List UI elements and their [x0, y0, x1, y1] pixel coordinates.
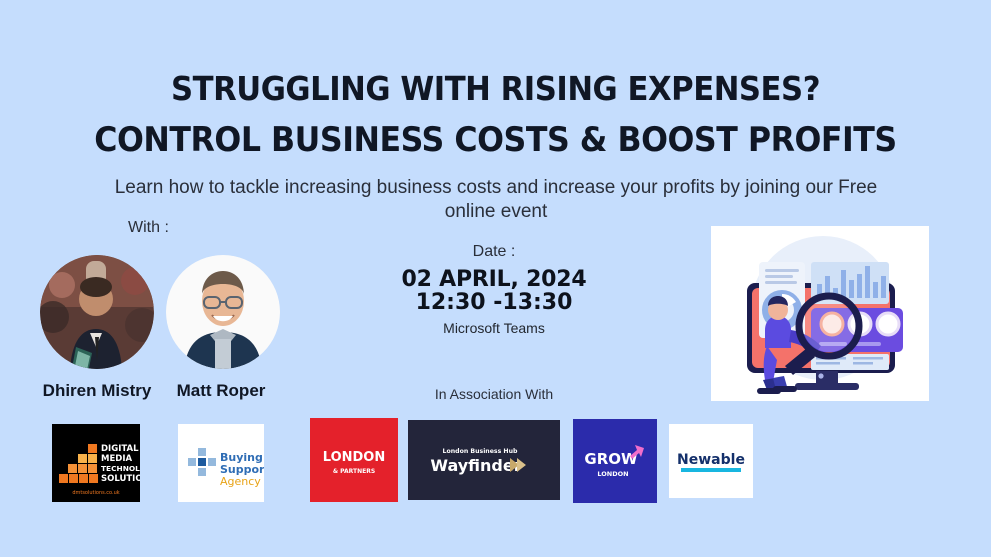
event-date: 02 APRIL, 2024 [384, 268, 604, 292]
logo-grow-london: GROW LONDON [573, 419, 657, 503]
date-label: Date : [384, 243, 604, 261]
association-label: In Association With [384, 386, 604, 402]
svg-text:MEDIA: MEDIA [101, 454, 132, 464]
speaker-name-0: Dhiren Mistry [32, 381, 162, 401]
svg-text:Wayfinder: Wayfinder [430, 456, 521, 475]
svg-text:GROW: GROW [584, 450, 638, 468]
logo-dmts: DIGITAL MEDIA TECHNOLOGY SOLUTIONS dmtso… [52, 424, 140, 502]
headline-line-1: STRUGGLING WITH RISING EXPENSES? [35, 70, 957, 108]
svg-text:London Business Hub: London Business Hub [443, 448, 518, 455]
subtitle-text: Learn how to tackle increasing business … [96, 176, 896, 224]
event-time: 12:30 -13:30 [384, 291, 604, 315]
logo-buying-support-agency: Buying Support Agency [178, 424, 264, 502]
logo-london-business-hub-wayfinder: London Business Hub Wayfinder [408, 420, 560, 500]
speakers-label: With : [128, 219, 169, 237]
business-data-analysis-illustration [711, 226, 929, 401]
logo-newable: Newable [669, 424, 753, 498]
speaker-photo-dhiren-mistry [40, 255, 154, 369]
svg-text:LONDON: LONDON [597, 470, 628, 478]
svg-text:& PARTNERS: & PARTNERS [333, 468, 375, 475]
svg-text:TECHNOLOGY: TECHNOLOGY [101, 464, 140, 473]
svg-text:DIGITAL: DIGITAL [101, 444, 139, 454]
svg-text:dmtsolutions.co.uk: dmtsolutions.co.uk [72, 490, 119, 496]
speaker-name-1: Matt Roper [156, 381, 286, 401]
svg-text:Agency: Agency [220, 475, 261, 488]
svg-text:Newable: Newable [677, 452, 745, 468]
svg-text:LONDON: LONDON [323, 450, 385, 465]
svg-text:SOLUTIONS: SOLUTIONS [101, 474, 140, 484]
speaker-photo-matt-roper [166, 255, 280, 369]
logo-london-and-partners: LONDON & PARTNERS [310, 418, 398, 502]
headline-line-2: CONTROL BUSINESS COSTS & BOOST PROFITS [35, 120, 957, 160]
flyer-canvas: STRUGGLING WITH RISING EXPENSES? CONTROL… [0, 0, 991, 557]
event-platform: Microsoft Teams [384, 320, 604, 336]
